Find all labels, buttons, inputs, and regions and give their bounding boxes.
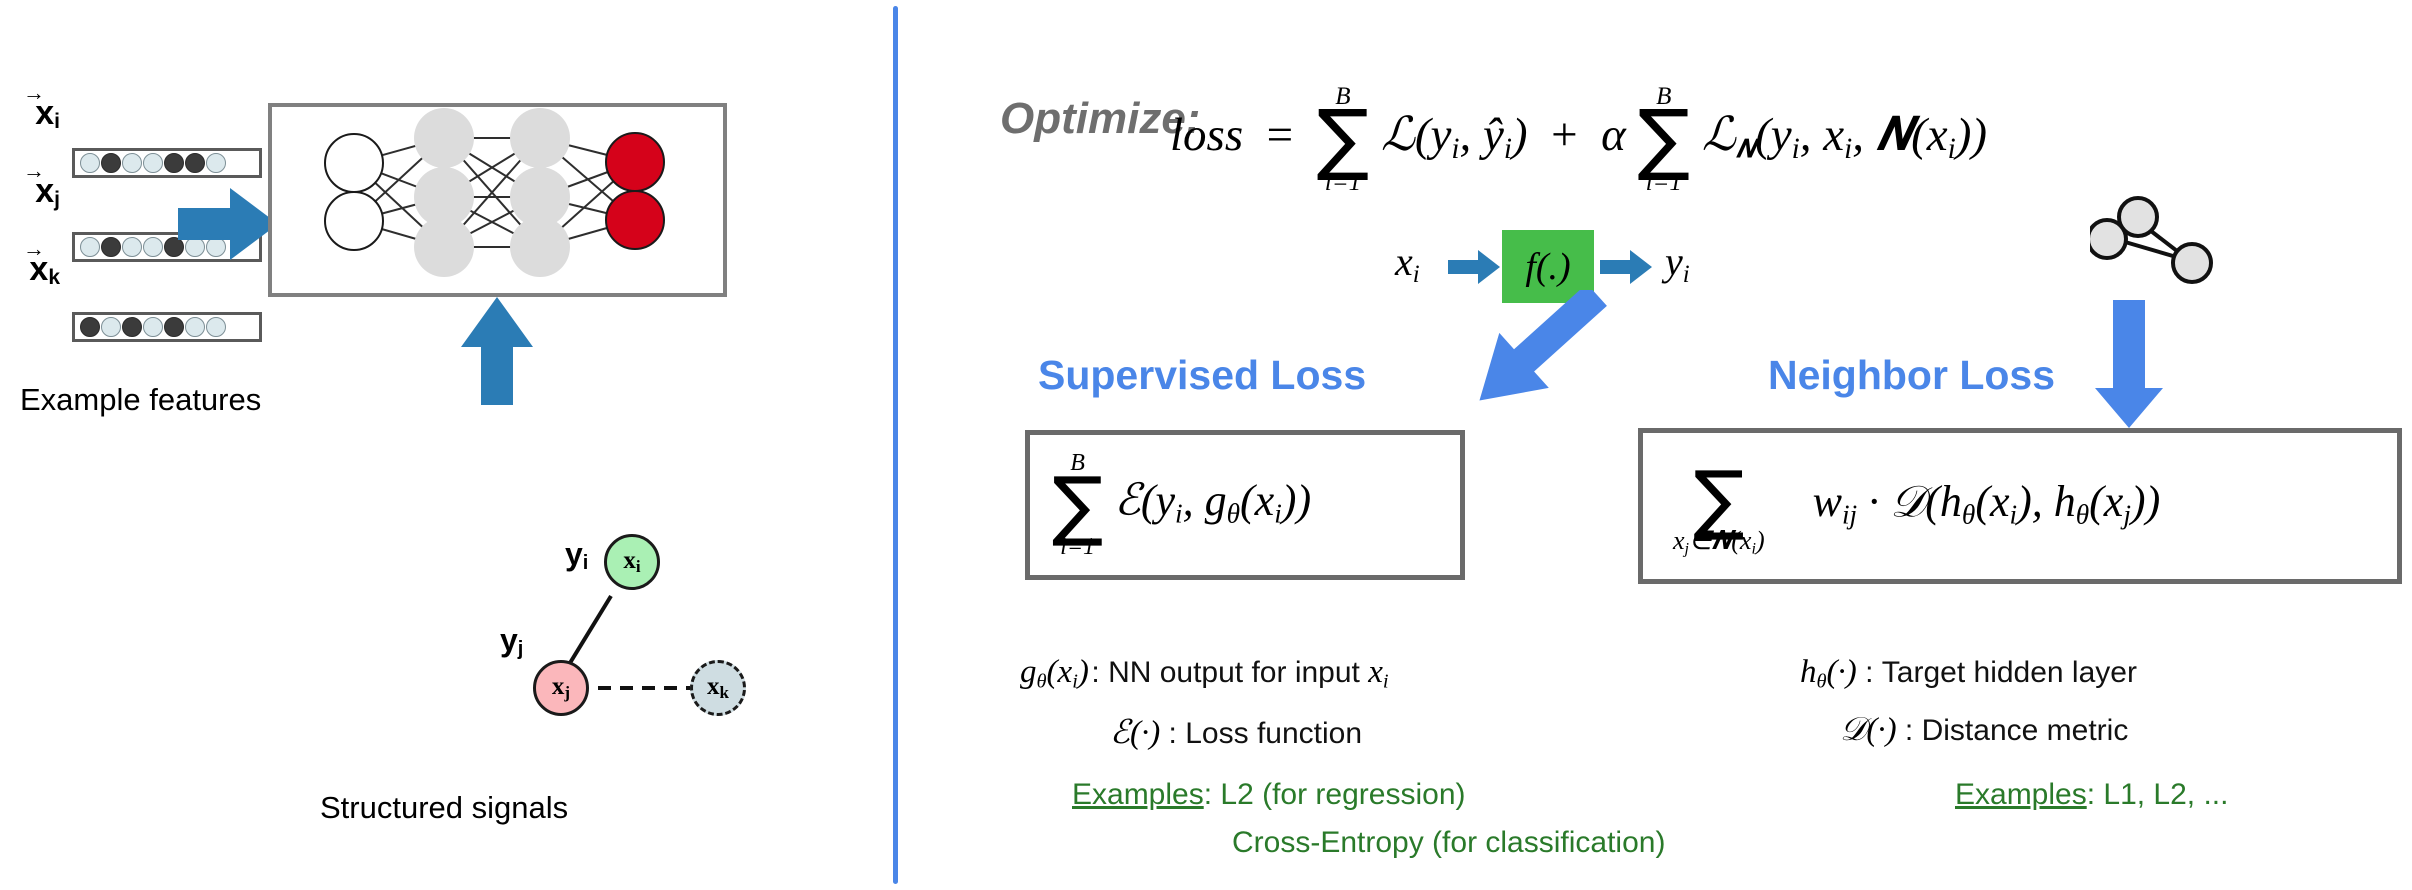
formula-body: wij · — [1813, 477, 1891, 526]
hidden-node — [510, 217, 570, 277]
summation: ∑ xj∈𝑵(xi) — [1673, 455, 1765, 558]
summation-1: B ∑ i=1 — [1317, 84, 1370, 195]
sum-lower-limit: i=1 — [1325, 170, 1361, 195]
neighbor-graph-icon — [2090, 175, 2220, 285]
input-node — [325, 134, 383, 192]
graph-label-base: y — [565, 536, 583, 572]
feature-cell — [101, 237, 121, 257]
sum-lower-limit: xj∈𝑵(xi) — [1673, 528, 1765, 558]
supervised-loss-formula: B ∑ i=1 ℰ(yi, gθ(xi)) — [1030, 451, 1311, 558]
graph-node-xi: xi — [604, 534, 660, 590]
summation-2: B ∑ i=1 — [1638, 84, 1691, 195]
formula-equals: = — [1255, 109, 1305, 161]
legend-symbol: 𝒟(·) — [1840, 712, 1897, 748]
neighbor-legend-row-1: hθ(·) : Target hidden layer — [1800, 654, 2137, 694]
feature-cell — [122, 153, 142, 173]
graph-label-yj: yj — [500, 622, 523, 661]
graph-label-yi: yi — [565, 536, 588, 575]
distance-symbol: 𝒟 — [1890, 477, 1925, 526]
examples-label: Examples — [1955, 778, 2087, 811]
formula-lhs: loss — [1170, 109, 1243, 161]
energy-symbol: ℰ — [1114, 476, 1141, 525]
examples-colon: : — [1204, 778, 1221, 811]
supervised-legend-row-2: ℰ(·) : Loss function — [1110, 712, 1362, 752]
supervised-legend-row-1: gθ(xi) : NN output for input xi — [1020, 654, 1389, 694]
neighbor-legend-row-2: 𝒟(·) : Distance metric — [1840, 712, 2128, 749]
sum-lower-limit: i=1 — [1060, 535, 1095, 559]
neural-network-graph — [272, 107, 723, 293]
function-box-label: f(.) — [1525, 245, 1570, 289]
example-features-caption: Example features — [20, 382, 261, 418]
feature-vector-label-j: → xj — [6, 164, 60, 210]
neighbor-loss-symbol: ℒ — [1702, 109, 1736, 161]
loss-symbol: ℒ — [1381, 109, 1415, 161]
formula-body: (yi, gθ(xi)) — [1141, 476, 1311, 525]
legend-trailing-math: xi — [1368, 654, 1388, 690]
feature-vector-label-k: → xk — [6, 242, 60, 288]
pipeline-input-label: xi — [1395, 238, 1420, 289]
legend-symbol: hθ(·) — [1800, 654, 1857, 690]
sigma-icon: ∑ — [1317, 109, 1370, 170]
neighbor-loss-formula-box: ∑ xj∈𝑵(xi) wij · 𝒟(hθ(xi), hθ(xj)) — [1638, 428, 2402, 584]
output-node — [606, 133, 664, 191]
formula-body-1: (yi, ŷi) — [1415, 109, 1528, 161]
node-base: x — [552, 673, 565, 700]
formula-plus: + — [1539, 109, 1589, 161]
feature-vector-row-i — [72, 148, 262, 178]
main-loss-formula: loss = B ∑ i=1 ℒ(yi, ŷi) + α B ∑ i=1 ℒ𝑵(… — [1170, 84, 1987, 195]
legend-text: Target hidden layer — [1882, 656, 2137, 689]
feature-cell — [143, 317, 163, 337]
vector-label-sub: j — [54, 188, 60, 211]
hidden-node — [510, 108, 570, 168]
node-sub: k — [720, 683, 729, 702]
feature-vector-label-i: → xi — [6, 86, 60, 132]
feature-cell — [164, 153, 184, 173]
node-base: x — [623, 547, 636, 574]
feature-cell — [80, 237, 100, 257]
input-node — [325, 192, 383, 250]
feature-cell — [206, 317, 226, 337]
formula-alpha: α — [1601, 109, 1626, 161]
legend-text: Distance metric — [1922, 714, 2129, 747]
legend-text: NN output for input — [1108, 656, 1368, 689]
legend-symbol: gθ(xi) — [1020, 654, 1089, 690]
examples-text: L1, L2, ... — [2103, 778, 2228, 811]
graph-node-xj: xj — [533, 660, 589, 716]
pipeline-output-label: yi — [1665, 238, 1690, 289]
supervised-examples-line-2: Cross-Entropy (for classification) — [1232, 826, 1665, 860]
hidden-node — [414, 217, 474, 277]
examples-label: Examples — [1072, 778, 1204, 811]
legend-text: Loss function — [1185, 717, 1362, 750]
feature-cell — [122, 237, 142, 257]
neighbor-examples-line-1: Examples: L1, L2, ... — [1955, 778, 2228, 812]
graph-label-sub: j — [518, 638, 524, 660]
feature-cell — [80, 317, 100, 337]
examples-colon: : — [2087, 778, 2104, 811]
supervised-loss-formula-box: B ∑ i=1 ℰ(yi, gθ(xi)) — [1025, 430, 1465, 580]
formula-body-2: (yi, xi, 𝑵(xi)) — [1755, 109, 1987, 161]
feature-cell — [185, 153, 205, 173]
graph-node-xk: xk — [690, 660, 746, 716]
graph-label-sub: i — [583, 552, 589, 574]
neighbor-loss-arrow-icon — [2095, 300, 2165, 430]
sum-lower-limit: i=1 — [1646, 170, 1682, 195]
vector-label-sub: k — [48, 266, 60, 289]
examples-text: L2 (for regression) — [1220, 778, 1465, 811]
panel-divider — [893, 6, 898, 884]
feature-cell — [101, 317, 121, 337]
vector-label-base: x — [35, 94, 54, 132]
vector-label-base: x — [35, 172, 54, 210]
formula-body-2: (hθ(xi), hθ(xj)) — [1925, 477, 2160, 526]
summation: B ∑ i=1 — [1052, 451, 1103, 558]
legend-separator: : — [1857, 656, 1882, 689]
supervised-loss-arrow-icon — [1440, 290, 1620, 420]
neighbor-subscript: 𝑵 — [1736, 134, 1755, 163]
vector-label-base: x — [29, 250, 48, 288]
feature-cell — [80, 153, 100, 173]
feature-cell — [122, 317, 142, 337]
signals-to-network-arrow-icon — [455, 297, 539, 409]
vector-label-sub: i — [54, 110, 60, 133]
hidden-node — [414, 108, 474, 168]
feature-cell — [101, 153, 121, 173]
graph-label-base: y — [500, 622, 518, 658]
neighbor-loss-formula: ∑ xj∈𝑵(xi) wij · 𝒟(hθ(xi), hθ(xj)) — [1643, 455, 2160, 558]
sigma-icon: ∑ — [1052, 475, 1103, 534]
sigma-icon: ∑ — [1693, 469, 1744, 528]
legend-separator: : — [1089, 656, 1108, 689]
node-sub: j — [564, 683, 570, 702]
output-node — [606, 191, 664, 249]
sigma-icon: ∑ — [1638, 109, 1691, 170]
feature-cell — [143, 237, 163, 257]
legend-separator: : — [1897, 714, 1922, 747]
feature-cell — [206, 153, 226, 173]
pipeline-arrow-in-icon — [1448, 248, 1502, 286]
pipeline-arrow-out-icon — [1600, 248, 1654, 286]
structured-signals-caption: Structured signals — [320, 790, 568, 826]
feature-cell — [185, 317, 205, 337]
node-base: x — [707, 673, 720, 700]
supervised-examples-line-1: Examples: L2 (for regression) — [1072, 778, 1466, 812]
feature-cell — [164, 317, 184, 337]
supervised-loss-title: Supervised Loss — [1038, 352, 1366, 399]
legend-separator: : — [1160, 717, 1185, 750]
node-sub: i — [636, 557, 641, 576]
legend-symbol: ℰ(·) — [1110, 715, 1160, 751]
neighbor-loss-title: Neighbor Loss — [1768, 352, 2055, 399]
feature-vector-row-k — [72, 312, 262, 342]
feature-cell — [143, 153, 163, 173]
